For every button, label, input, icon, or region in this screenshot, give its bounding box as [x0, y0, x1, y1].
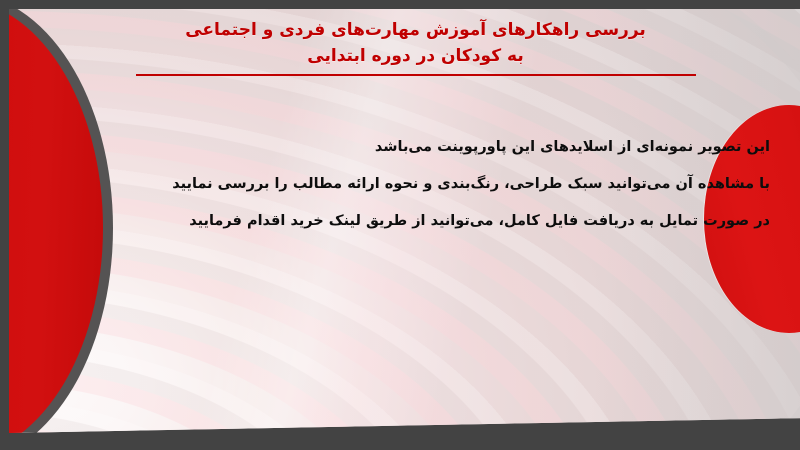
slide-body-line-3: در صورت تمایل به دریافت فایل کامل، می‌تو… [105, 203, 780, 240]
slide-body-line-1: این تصویر نمونه‌ای از اسلایدهای این پاور… [105, 129, 780, 166]
slide-title-line-2: به کودکان در دوره ابتدایی [119, 43, 712, 69]
title-underline-rule [136, 74, 696, 76]
slide-title-line-1: بررسی راهکارهای آموزش مهارت‌های فردی و ا… [119, 17, 712, 43]
slide-body-line-2: با مشاهده آن می‌توانید سبک طراحی، رنگ‌بن… [105, 166, 780, 203]
slide-canvas: بررسی راهکارهای آموزش مهارت‌های فردی و ا… [9, 9, 800, 433]
slide-title-block: بررسی راهکارهای آموزش مهارت‌های فردی و ا… [119, 17, 712, 76]
slide-content: بررسی راهکارهای آموزش مهارت‌های فردی و ا… [9, 9, 800, 433]
slide-root: بررسی راهکارهای آموزش مهارت‌های فردی و ا… [0, 0, 800, 450]
slide-body-block: این تصویر نمونه‌ای از اسلایدهای این پاور… [105, 129, 780, 240]
